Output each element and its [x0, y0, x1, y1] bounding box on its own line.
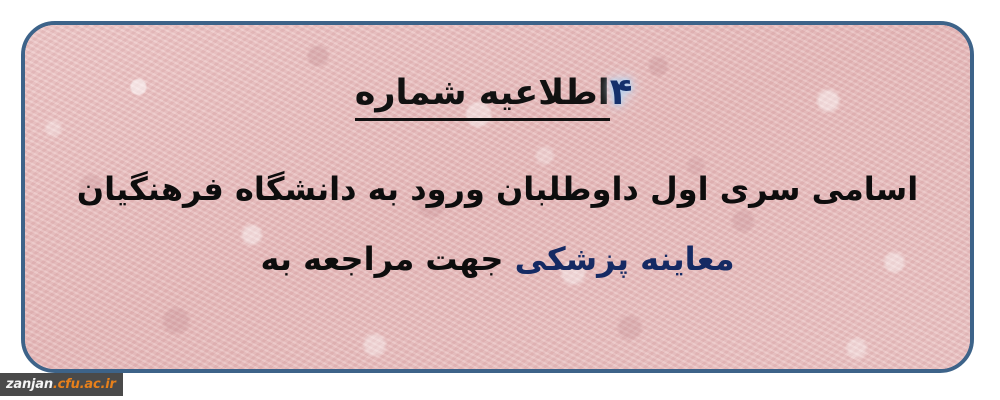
announcement-body-line-2-highlight: معاینه پزشکی — [515, 240, 735, 278]
announcement-number: ۴ — [610, 70, 641, 113]
watermark-site-name: zanjan — [6, 377, 53, 392]
announcement-title: ۴اطلاعیه شماره — [355, 73, 641, 111]
announcement-body-line-2: معاینه پزشکی جهت مراجعه به — [261, 243, 735, 275]
site-watermark: zanjan.cfu.ac.ir — [0, 373, 123, 396]
announcement-title-text: اطلاعیه شماره — [355, 73, 610, 121]
screenshot-canvas: ۴اطلاعیه شماره اسامی سری اول داوطلبان ور… — [0, 0, 1000, 400]
announcement-body-line-2-prefix: جهت مراجعه به — [261, 240, 504, 278]
announcement-content: ۴اطلاعیه شماره اسامی سری اول داوطلبان ور… — [25, 25, 970, 369]
announcement-card: ۴اطلاعیه شماره اسامی سری اول داوطلبان ور… — [21, 21, 974, 373]
announcement-body-line-1: اسامی سری اول داوطلبان ورود به دانشگاه ف… — [77, 173, 918, 205]
watermark-site-domain: .cfu.ac.ir — [53, 377, 116, 392]
